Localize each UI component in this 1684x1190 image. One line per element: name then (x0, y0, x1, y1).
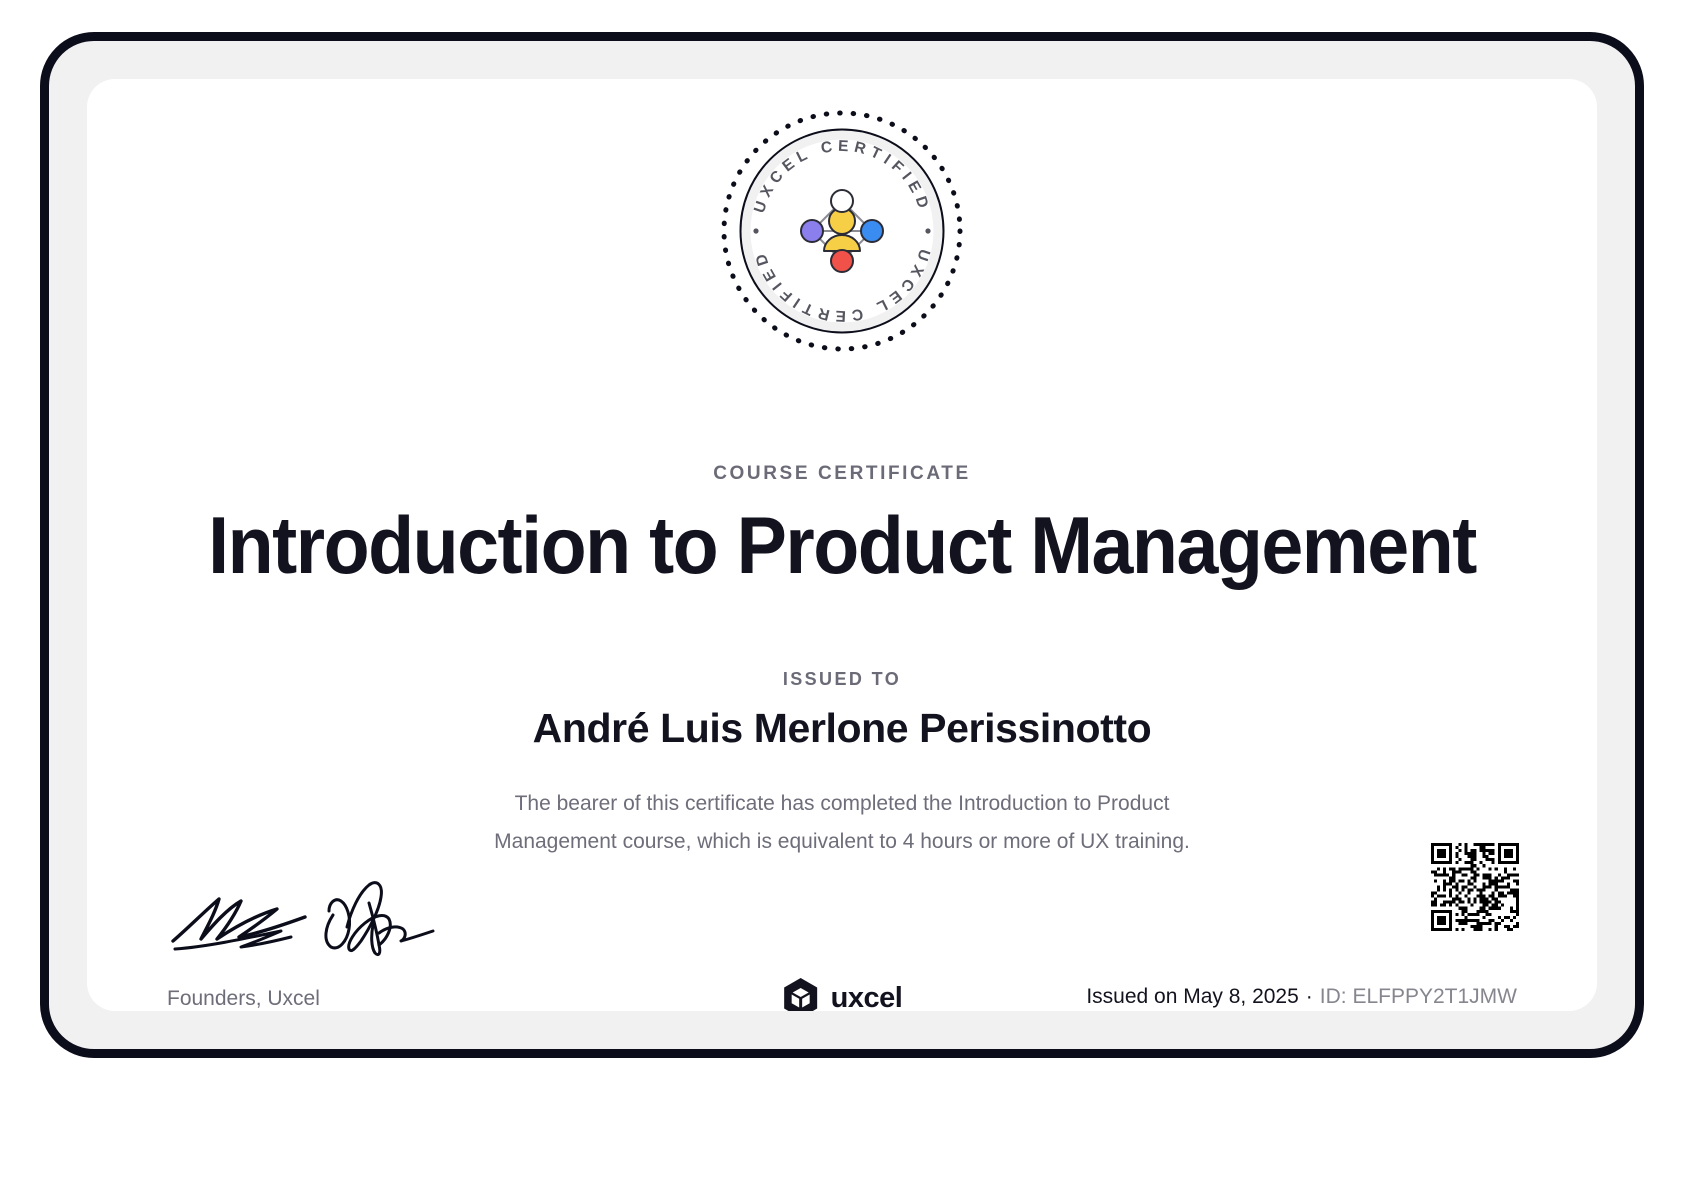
signature-icon (165, 879, 465, 969)
verification-qr-code[interactable] (1431, 843, 1519, 931)
certificate-description: The bearer of this certificate has compl… (462, 785, 1222, 861)
certificate-card: UXCEL CERTIFIED UXCEL CERTIFIED (87, 79, 1597, 1011)
issued-to-label: ISSUED TO (87, 669, 1597, 690)
uxcel-wordmark: uxcel (831, 982, 903, 1012)
course-title: Introduction to Product Management (177, 503, 1507, 590)
certification-seal: UXCEL CERTIFIED UXCEL CERTIFIED (87, 105, 1597, 357)
uxcel-certified-seal-icon: UXCEL CERTIFIED UXCEL CERTIFIED (716, 105, 968, 357)
uxcel-logo-icon (782, 977, 820, 1011)
issue-date: Issued on May 8, 2025 (1086, 985, 1298, 1008)
founders-label: Founders, Uxcel (167, 987, 320, 1011)
founder-signatures (165, 879, 465, 969)
uxcel-brand: uxcel (782, 977, 903, 1011)
certificate-frame: UXCEL CERTIFIED UXCEL CERTIFIED (40, 32, 1644, 1058)
certificate-id: ID: ELFPPY2T1JMW (1320, 985, 1517, 1008)
issue-info: Issued on May 8, 2025·ID: ELFPPY2T1JMW (1086, 985, 1517, 1009)
recipient-name: André Luis Merlone Perissinotto (127, 705, 1557, 752)
certificate-page: UXCEL CERTIFIED UXCEL CERTIFIED (0, 0, 1684, 1190)
issue-separator: · (1306, 985, 1313, 1008)
certificate-type-label: COURSE CERTIFICATE (87, 463, 1597, 485)
